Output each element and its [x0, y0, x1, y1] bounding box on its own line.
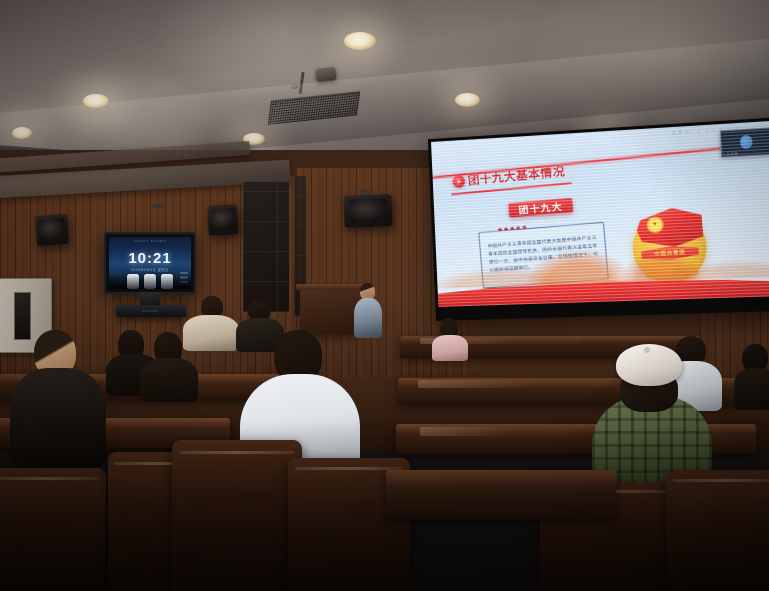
five-stars-decoration — [495, 225, 530, 231]
tv-side-buttons[interactable] — [180, 272, 188, 284]
speaker-mount — [360, 190, 374, 195]
cap-button-icon — [644, 347, 650, 353]
projection-screen[interactable]: 投影到：C 4 8 6 2 X » 团十九大基本情况 团十九大 中国共产主义青年… — [428, 117, 769, 321]
ceiling-downlight — [344, 32, 376, 50]
body — [432, 335, 468, 361]
ceiling-downlight — [455, 93, 480, 107]
screen-bezel: 投影到：C 4 8 6 2 X » 团十九大基本情况 团十九大 中国共产主义青年… — [428, 117, 769, 321]
acoustic-panel-block — [243, 182, 289, 312]
smart-tv-display[interactable]: SMART BOARD 10:21 2025年5月9日 星期五 白板 投屏 应用 — [104, 232, 196, 294]
speaker-mount — [152, 204, 163, 208]
tv-brand-logo: SMART BOARD — [109, 239, 191, 243]
presenter — [352, 283, 386, 335]
chevron-right-icon: » — [452, 175, 465, 188]
body — [140, 358, 198, 402]
smoke-detector — [291, 84, 298, 89]
inset-blue-circle — [740, 135, 753, 149]
tv-screen: SMART BOARD 10:21 2025年5月9日 星期五 白板 投屏 应用 — [109, 237, 191, 289]
tv-app-whiteboard[interactable]: 白板 — [127, 274, 139, 289]
tv-base-label: HUAWEI — [116, 309, 186, 313]
audience-member-pink-top — [432, 318, 468, 358]
body — [734, 368, 769, 410]
wall-speaker-center — [343, 194, 392, 228]
tv-app-cast[interactable]: 投屏 — [144, 274, 156, 289]
chair-back-foreground-center — [172, 440, 302, 591]
slide-text-box: 中国共产主义青年团全国代表大会是中国共产主义青年团的全国领导机关，团的全国代表大… — [478, 222, 609, 289]
desk-row-front — [386, 470, 616, 520]
audience-member-long-hair-2 — [140, 332, 198, 398]
inset-caption: 4 日直播 — [723, 152, 738, 157]
chair-back-foreground-edge — [666, 470, 769, 591]
audience-member-hoodie-glasses — [10, 330, 106, 460]
emblem-star-icon — [648, 218, 662, 232]
lecture-hall-scene: SMART BOARD 10:21 2025年5月9日 星期五 白板 投屏 应用… — [0, 0, 769, 591]
tv-app-apps[interactable]: 应用 — [161, 274, 173, 289]
communist-youth-league-emblem: 中国共青团 — [624, 203, 715, 290]
tv-clock: 10:21 — [109, 250, 191, 267]
slide-title-row: » 团十九大基本情况 — [452, 163, 566, 190]
tv-app-row: 白板 投屏 应用 — [109, 274, 191, 289]
tv-date-subtitle: 2025年5月9日 星期五 — [109, 267, 191, 272]
slide-content: 投影到：C 4 8 6 2 X » 团十九大基本情况 团十九大 中国共产主义青年… — [431, 121, 769, 307]
audience-member-right-edge — [734, 344, 769, 404]
ceiling-downlight — [83, 94, 109, 108]
ceiling-downlight — [12, 127, 32, 139]
ceiling-vent — [266, 90, 361, 126]
tv-stand-base: HUAWEI — [116, 305, 186, 317]
body — [10, 368, 106, 468]
wall-speaker-right — [207, 204, 239, 236]
slide-body-text: 中国共产主义青年团全国代表大会是中国共产主义青年团的全国领导机关，团的全国代表大… — [487, 234, 599, 275]
chair-back-foreground-left — [0, 468, 106, 591]
slide-section-badge: 团十九大 — [508, 198, 573, 218]
wall-speaker-left — [35, 214, 69, 246]
ceiling-projector — [315, 67, 336, 82]
cast-inset-window[interactable]: 4 日直播 — [720, 127, 769, 157]
